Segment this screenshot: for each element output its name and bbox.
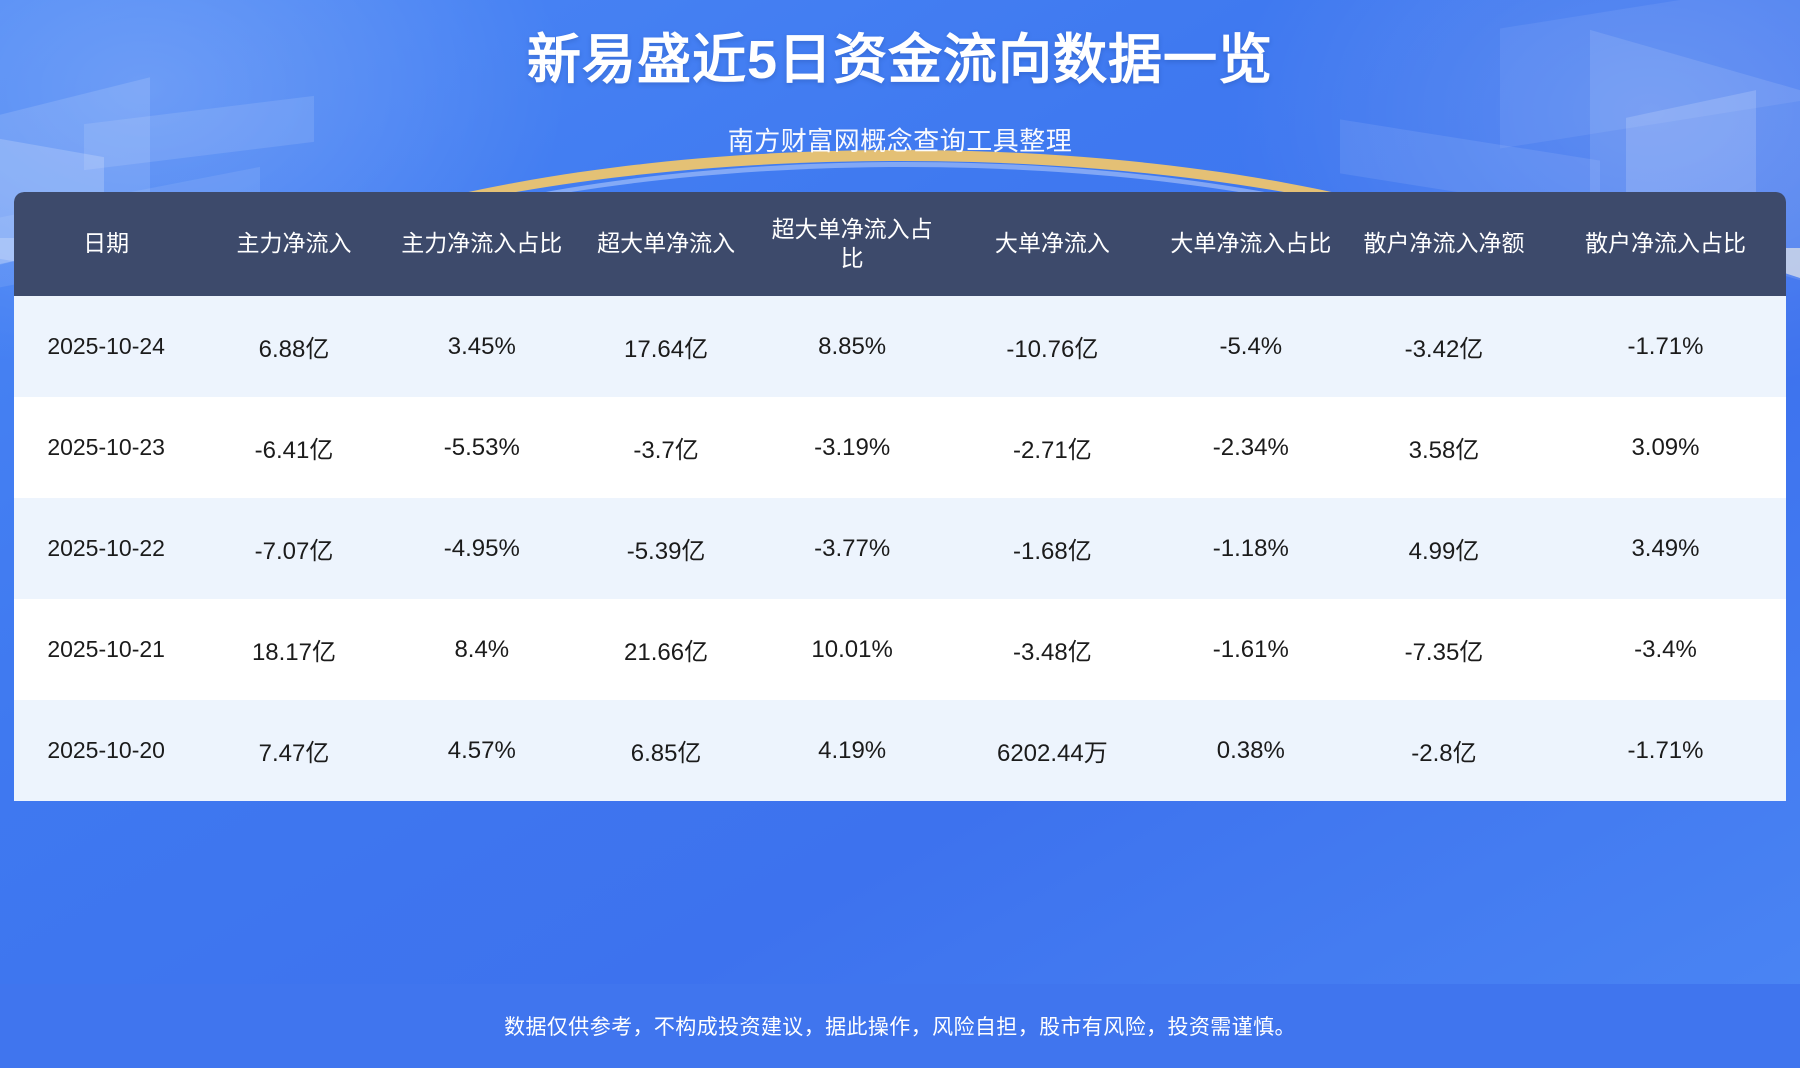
cell-xl-net: 6.85亿 (574, 700, 758, 801)
cell-date: 2025-10-20 (14, 700, 198, 801)
cell-xl-net: -5.39亿 (574, 498, 758, 599)
column-header-lg-net: 大单净流入 (946, 192, 1159, 296)
table-header-row: 日期 主力净流入 主力净流入占比 超大单净流入 超大单净流入占比 大单净流入 大… (14, 192, 1786, 296)
column-header-main-pct: 主力净流入占比 (390, 192, 574, 296)
cell-main-pct: 4.57% (390, 700, 574, 801)
cell-main-pct: -5.53% (390, 397, 574, 498)
cell-retail-pct: 3.09% (1545, 397, 1786, 498)
cell-xl-pct: -3.19% (758, 397, 946, 498)
cell-xl-net: -3.7亿 (574, 397, 758, 498)
cell-retail-net: -7.35亿 (1343, 599, 1545, 700)
cell-retail-pct: -3.4% (1545, 599, 1786, 700)
cell-retail-pct: 3.49% (1545, 498, 1786, 599)
table-row: 2025-10-24 6.88亿 3.45% 17.64亿 8.85% -10.… (14, 296, 1786, 397)
cell-xl-pct: 4.19% (758, 700, 946, 801)
cell-retail-net: -3.42亿 (1343, 296, 1545, 397)
cell-lg-pct: -1.61% (1159, 599, 1343, 700)
cell-xl-net: 17.64亿 (574, 296, 758, 397)
table-row: 2025-10-20 7.47亿 4.57% 6.85亿 4.19% 6202.… (14, 700, 1786, 801)
page-subtitle: 南方财富网概念查询工具整理 (0, 121, 1800, 158)
cell-date: 2025-10-23 (14, 397, 198, 498)
cell-xl-pct: 10.01% (758, 599, 946, 700)
column-header-main-net: 主力净流入 (198, 192, 389, 296)
cell-date: 2025-10-22 (14, 498, 198, 599)
cell-main-net: -7.07亿 (198, 498, 389, 599)
column-header-xl-net: 超大单净流入 (574, 192, 758, 296)
column-header-retail-net: 散户净流入净额 (1343, 192, 1545, 296)
title-block: 新易盛近5日资金流向数据一览 南方财富网概念查询工具整理 (0, 0, 1800, 158)
column-header-lg-pct: 大单净流入占比 (1159, 192, 1343, 296)
cell-main-pct: -4.95% (390, 498, 574, 599)
cell-date: 2025-10-24 (14, 296, 198, 397)
table-body: 2025-10-24 6.88亿 3.45% 17.64亿 8.85% -10.… (14, 296, 1786, 801)
cell-retail-pct: -1.71% (1545, 296, 1786, 397)
cell-lg-pct: -1.18% (1159, 498, 1343, 599)
cell-main-pct: 3.45% (390, 296, 574, 397)
cell-main-net: 7.47亿 (198, 700, 389, 801)
cell-lg-net: -10.76亿 (946, 296, 1159, 397)
footer-bar: 数据仅供参考，不构成投资建议，据此操作，风险自担，股市有风险，投资需谨慎。 (0, 984, 1800, 1068)
disclaimer-text: 数据仅供参考，不构成投资建议，据此操作，风险自担，股市有风险，投资需谨慎。 (504, 1011, 1296, 1041)
table-row: 2025-10-23 -6.41亿 -5.53% -3.7亿 -3.19% -2… (14, 397, 1786, 498)
cell-lg-net: -1.68亿 (946, 498, 1159, 599)
fund-flow-table-container: 日期 主力净流入 主力净流入占比 超大单净流入 超大单净流入占比 大单净流入 大… (14, 192, 1786, 801)
cell-retail-pct: -1.71% (1545, 700, 1786, 801)
column-header-retail-pct: 散户净流入占比 (1545, 192, 1786, 296)
cell-retail-net: 3.58亿 (1343, 397, 1545, 498)
column-header-date: 日期 (14, 192, 198, 296)
cell-xl-pct: -3.77% (758, 498, 946, 599)
cell-lg-net: 6202.44万 (946, 700, 1159, 801)
table-row: 2025-10-22 -7.07亿 -4.95% -5.39亿 -3.77% -… (14, 498, 1786, 599)
cell-date: 2025-10-21 (14, 599, 198, 700)
cell-main-net: -6.41亿 (198, 397, 389, 498)
cell-retail-net: -2.8亿 (1343, 700, 1545, 801)
column-header-xl-pct: 超大单净流入占比 (758, 192, 946, 296)
cell-main-net: 6.88亿 (198, 296, 389, 397)
cell-main-pct: 8.4% (390, 599, 574, 700)
cell-lg-net: -3.48亿 (946, 599, 1159, 700)
page-title: 新易盛近5日资金流向数据一览 (0, 26, 1800, 95)
cell-xl-pct: 8.85% (758, 296, 946, 397)
cell-lg-net: -2.71亿 (946, 397, 1159, 498)
cell-lg-pct: -5.4% (1159, 296, 1343, 397)
table-row: 2025-10-21 18.17亿 8.4% 21.66亿 10.01% -3.… (14, 599, 1786, 700)
cell-retail-net: 4.99亿 (1343, 498, 1545, 599)
cell-xl-net: 21.66亿 (574, 599, 758, 700)
fund-flow-table: 日期 主力净流入 主力净流入占比 超大单净流入 超大单净流入占比 大单净流入 大… (14, 192, 1786, 801)
cell-main-net: 18.17亿 (198, 599, 389, 700)
poster-canvas: 新易盛近5日资金流向数据一览 南方财富网概念查询工具整理 南方财富网 south… (0, 0, 1800, 1068)
cell-lg-pct: 0.38% (1159, 700, 1343, 801)
cell-lg-pct: -2.34% (1159, 397, 1343, 498)
table-head: 日期 主力净流入 主力净流入占比 超大单净流入 超大单净流入占比 大单净流入 大… (14, 192, 1786, 296)
